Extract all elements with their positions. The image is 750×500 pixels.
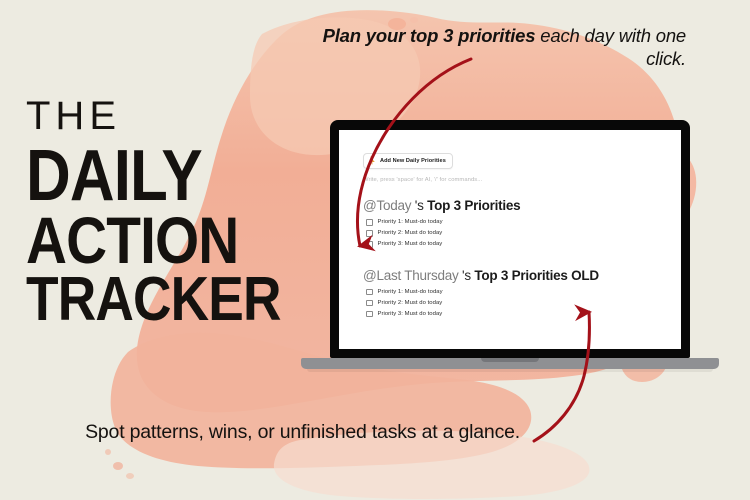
push-pin-icon <box>368 156 376 165</box>
checkbox-icon[interactable] <box>366 300 373 307</box>
bottom-annotation-text: Spot patterns, wins, or unfinished tasks… <box>60 420 520 445</box>
list-item[interactable]: Priority 1: Must-do today <box>366 219 661 226</box>
laptop-mockup: Add New Daily Priorities Write, press 's… <box>330 120 690 358</box>
section-heading-last-thursday: @Last Thursday 's Top 3 Priorities OLD <box>363 268 661 283</box>
top-annotation-text: Plan your top 3 priorities each day with… <box>296 24 686 71</box>
section-heading-today: @Today 's Top 3 Priorities <box>363 198 661 213</box>
checkbox-icon[interactable] <box>366 241 373 248</box>
mention-today[interactable]: @Today <box>363 198 411 213</box>
list-item-label: Priority 3: Must do today <box>378 241 443 247</box>
laptop-screen: Add New Daily Priorities Write, press 's… <box>339 130 681 349</box>
laptop-foot-shadow <box>307 369 713 372</box>
title-the: THE <box>26 96 306 136</box>
list-item-label: Priority 3: Must do today <box>378 311 443 317</box>
laptop-hinge-notch <box>481 358 539 362</box>
poster-canvas: THE DAILY ACTION TRACKER Plan your top 3… <box>0 0 750 500</box>
checkbox-icon[interactable] <box>366 219 373 226</box>
priorities-section-last-thursday: @Last Thursday 's Top 3 Priorities OLD P… <box>363 268 661 318</box>
list-item[interactable]: Priority 2: Must do today <box>366 230 661 237</box>
top-annotation-rest: each day with one click. <box>535 25 686 69</box>
top-annotation-strong: Plan your top 3 priorities <box>323 25 536 46</box>
title-line-tracker: TRACKER <box>26 273 267 326</box>
list-item-label: Priority 1: Must-do today <box>378 289 443 295</box>
checkbox-icon[interactable] <box>366 230 373 237</box>
list-item-label: Priority 1: Must-do today <box>378 219 443 225</box>
list-item-label: Priority 2: Must do today <box>378 300 443 306</box>
list-item-label: Priority 2: Must do today <box>378 230 443 236</box>
heading-possessive-last-thursday: 's <box>459 268 475 283</box>
list-item[interactable]: Priority 1: Must-do today <box>366 289 661 296</box>
add-new-daily-priorities-button[interactable]: Add New Daily Priorities <box>363 153 453 169</box>
list-item[interactable]: Priority 3: Must do today <box>366 311 661 318</box>
checkbox-icon[interactable] <box>366 311 373 318</box>
list-item[interactable]: Priority 3: Must do today <box>366 241 661 248</box>
editor-placeholder-text[interactable]: Write, press 'space' for AI, '/' for com… <box>363 177 661 183</box>
title-line-action: ACTION <box>26 212 267 269</box>
mention-last-thursday[interactable]: @Last Thursday <box>363 268 459 283</box>
page-title: THE DAILY ACTION TRACKER <box>26 96 306 326</box>
heading-title-today: Top 3 Priorities <box>427 198 520 213</box>
priorities-section-today: @Today 's Top 3 Priorities Priority 1: M… <box>363 198 661 248</box>
heading-title-last-thursday: Top 3 Priorities OLD <box>474 268 599 283</box>
add-new-daily-priorities-label: Add New Daily Priorities <box>380 158 446 164</box>
title-line-daily: DAILY <box>26 146 267 208</box>
laptop-lid: Add New Daily Priorities Write, press 's… <box>330 120 690 358</box>
list-item[interactable]: Priority 2: Must do today <box>366 300 661 307</box>
notes-app: Add New Daily Priorities Write, press 's… <box>339 130 681 317</box>
heading-possessive-today: 's <box>411 198 427 213</box>
laptop-base <box>301 358 719 369</box>
checkbox-icon[interactable] <box>366 289 373 296</box>
